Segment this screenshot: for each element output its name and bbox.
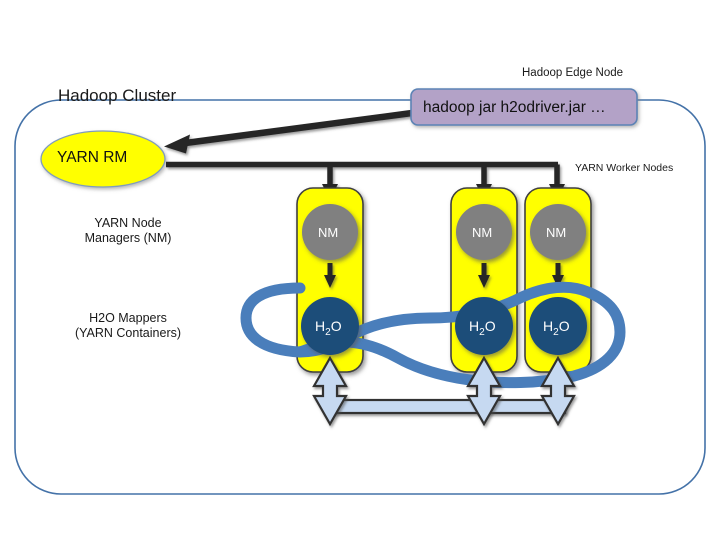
- diagram-canvas: Hadoop Cluster Hadoop Edge Node YARN Wor…: [0, 0, 720, 540]
- diagram-base-layer: [0, 0, 720, 540]
- hadoop-edge-node-label: Hadoop Edge Node: [522, 67, 623, 81]
- node-manager-circle-3[interactable]: [530, 204, 586, 260]
- yarn-worker-nodes-label: YARN Worker Nodes: [575, 162, 673, 174]
- h2o-mapper-circle-3[interactable]: [529, 297, 587, 355]
- h2o-mapper-circle-1[interactable]: [301, 297, 359, 355]
- h2o-mapper-circle-2[interactable]: [455, 297, 513, 355]
- hadoop-cluster-label: Hadoop Cluster: [58, 86, 176, 106]
- node-manager-circle-1[interactable]: [302, 204, 358, 260]
- node-manager-circle-2[interactable]: [456, 204, 512, 260]
- yarn-rm-label: YARN RM: [57, 149, 127, 167]
- yarn-node-managers-label: YARN Node Managers (NM): [68, 216, 188, 246]
- h2o-mappers-label: H2O Mappers (YARN Containers): [62, 311, 194, 341]
- hdfs-bar: [325, 400, 565, 413]
- hadoop-command-text[interactable]: hadoop jar h2odriver.jar …: [423, 99, 606, 117]
